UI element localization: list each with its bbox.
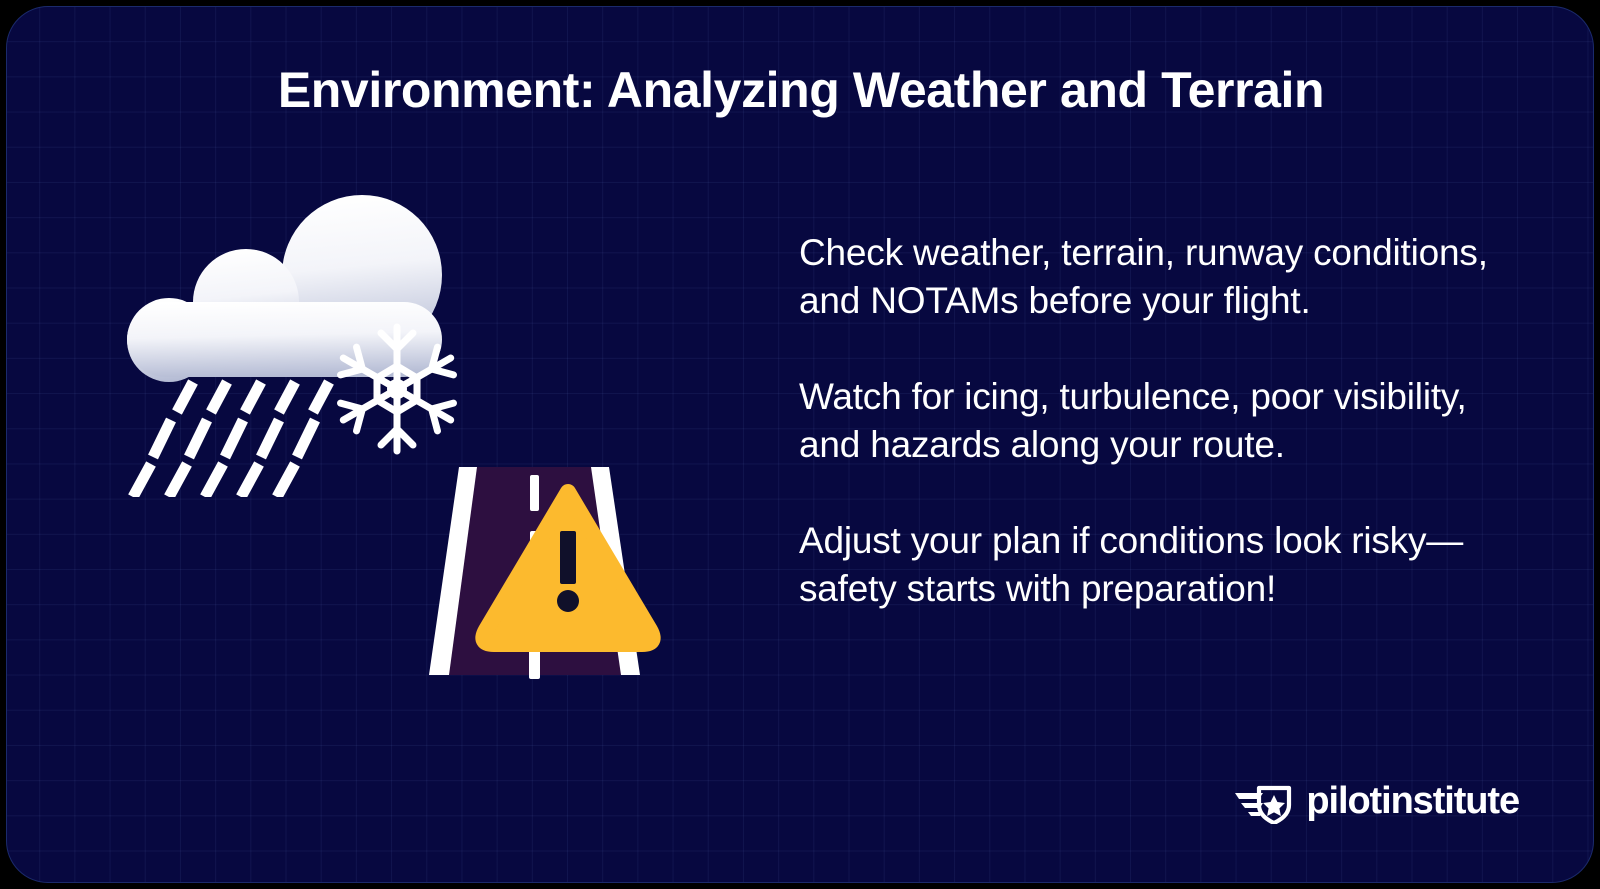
body-text-block: Check weather, terrain, runway condition… bbox=[799, 229, 1529, 613]
body-paragraph-1: Check weather, terrain, runway condition… bbox=[799, 229, 1529, 325]
cloud-rain-snow-icon bbox=[107, 167, 487, 497]
brand-logo: pilotinstitute bbox=[1233, 778, 1519, 824]
road-warning-icon bbox=[397, 467, 687, 687]
illustration-group bbox=[107, 167, 727, 707]
brand-wordmark: pilotinstitute bbox=[1306, 782, 1519, 820]
page-title: Environment: Analyzing Weather and Terra… bbox=[7, 59, 1594, 121]
body-paragraph-2: Watch for icing, turbulence, poor visibi… bbox=[799, 373, 1529, 469]
winged-shield-star-badge-icon bbox=[1233, 778, 1295, 824]
body-paragraph-3: Adjust your plan if conditions look risk… bbox=[799, 517, 1529, 613]
infographic-card: Environment: Analyzing Weather and Terra… bbox=[6, 6, 1594, 883]
rain-dashes bbox=[133, 382, 329, 497]
snowflake-icon bbox=[335, 327, 458, 451]
